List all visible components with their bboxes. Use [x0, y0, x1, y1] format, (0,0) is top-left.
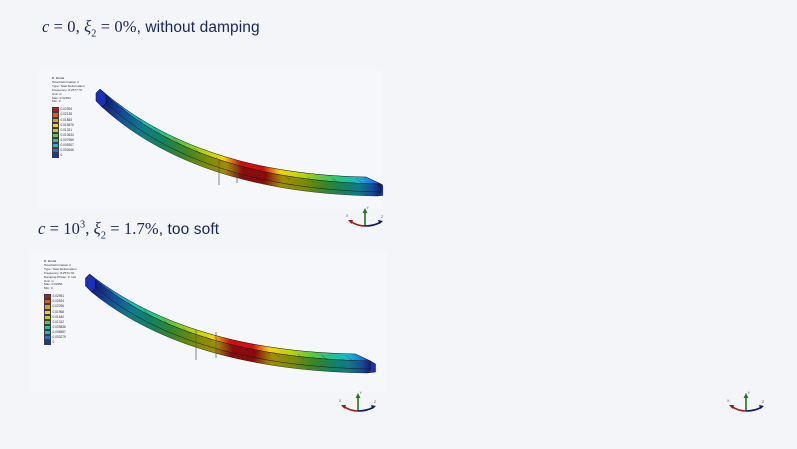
svg-text:Z: Z [381, 215, 384, 219]
svg-text:X: X [727, 399, 730, 403]
svg-text:Y: Y [360, 391, 363, 395]
beam-end-left [86, 274, 96, 292]
caption-description: , too soft [159, 221, 219, 238]
legend-value-column: 0.029510.026240.022960.019680.016400.013… [53, 294, 66, 345]
beam-mesh-bottom-left[interactable] [78, 268, 383, 383]
coordinate-triad-bottom-right: Y Z X [726, 390, 766, 416]
legend-swatch-9 [52, 153, 59, 158]
legend-min: Min: 0 [44, 287, 77, 291]
support-markers-bottom-left [190, 330, 234, 362]
caption-top-left: c = 0, ξ2 = 0%, without damping [42, 17, 260, 39]
caption-eq2: = [97, 17, 115, 36]
ansys-viewport-top-left[interactable]: B: Modal Total Deformation 2 Type: Total… [38, 69, 383, 209]
legend-min: Min: 0 [52, 100, 85, 104]
legend-swatch-column [44, 294, 51, 345]
legend-colorbar: 0.023940.021280.018630.0155760.013310.01… [52, 107, 85, 158]
caption-description: , without damping [137, 19, 260, 36]
caption-comma: , [76, 17, 84, 36]
caption-xi-value: 1.7% [124, 219, 159, 238]
coordinate-triad-bottom-left: Y Z X [338, 390, 378, 416]
caption-eq2: = [106, 219, 124, 238]
panel-bottom-left: c = 103, ξ2 = 1.7%, too soft B: Modal To… [0, 225, 398, 449]
caption-xi-value: 0% [114, 17, 136, 36]
legend-bottom-left: B: Modal Total Deformation 2 Type: Total… [44, 260, 77, 345]
triad-z-axis: Z [358, 400, 377, 411]
panel-bottom-right: c = 105, ξ2 = 0%, too hard B: Modal Tota… [399, 225, 797, 449]
triad-x-axis: X [339, 399, 358, 411]
caption-eq1: = [45, 219, 63, 238]
triad-z-axis: Z [746, 400, 765, 411]
caption-eq1: = [49, 17, 67, 36]
legend-swatch-column [52, 107, 59, 158]
svg-text:Z: Z [374, 400, 377, 404]
svg-text:Z: Z [762, 400, 765, 404]
caption-c-value: 0 [67, 17, 75, 36]
svg-text:X: X [339, 399, 342, 403]
triad-y-axis: Y [363, 206, 370, 226]
svg-text:Y: Y [367, 206, 370, 210]
svg-text:X: X [346, 214, 349, 218]
beam-svg-sag [78, 268, 383, 383]
panel-top-left: c = 0, ξ2 = 0%, without damping B: Modal… [0, 0, 398, 224]
triad-y-axis: Y [744, 391, 751, 411]
panel-top-right: c = 104, ξ2 = 17%, ideal damping B: Moda… [399, 0, 797, 224]
caption-xi-symbol: ξ [94, 219, 101, 238]
triad-y-axis: Y [356, 391, 363, 411]
caption-comma: , [85, 219, 93, 238]
triad-x-axis: X [727, 399, 746, 411]
slide-canvas: c = 0, ξ2 = 0%, without damping B: Modal… [0, 0, 797, 449]
legend-value-9: 0 [53, 340, 66, 345]
support-markers-top-left [213, 159, 253, 187]
legend-value-9: 0 [61, 153, 74, 158]
legend-swatch-9 [44, 340, 51, 345]
legend-top-left: B: Modal Total Deformation 2 Type: Total… [52, 77, 85, 158]
legend-value-column: 0.023940.021280.018630.0155760.013310.01… [61, 107, 74, 158]
beam-end-left [96, 89, 106, 107]
caption-c-value: 10 [63, 219, 80, 238]
ansys-viewport-bottom-left[interactable]: B: Modal Total Deformation 2 Type: Total… [30, 252, 387, 392]
svg-text:Y: Y [748, 391, 751, 395]
legend-colorbar: 0.029510.026240.022960.019680.016400.013… [44, 294, 77, 345]
caption-bottom-left: c = 103, ξ2 = 1.7%, too soft [38, 219, 219, 241]
